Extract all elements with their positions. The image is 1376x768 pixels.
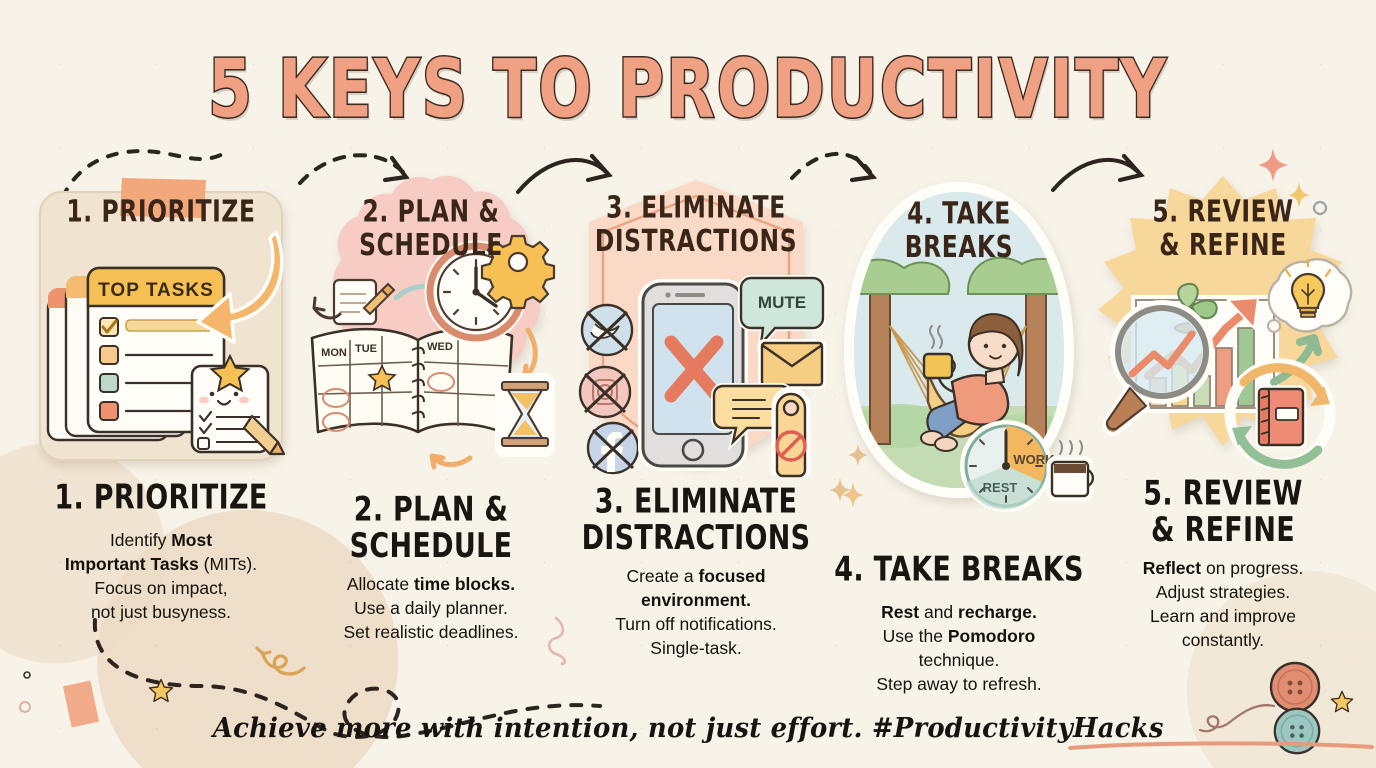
step-1-card: TOP TASKS (30, 170, 292, 470)
caption-line: Important Tasks (MITs). (30, 552, 292, 576)
caption-line: environment. (565, 588, 827, 612)
step-column-5: 5. REVIEW & REFINE 5. REVIEW & REFINE Re… (1092, 170, 1354, 652)
step-1-body: Identify MostImportant Tasks (MITs).Focu… (30, 528, 292, 625)
envelope-icon (761, 342, 823, 386)
caption-line: Allocate time blocks. (300, 572, 562, 596)
step-2-card: MON TUE WED (300, 170, 562, 470)
step-5-title: 5. REVIEW & REFINE (1092, 476, 1354, 548)
button-coral-icon (1268, 660, 1322, 714)
svg-text:MON: MON (321, 347, 347, 359)
caption-line: Create a focused (565, 564, 827, 588)
page-title: 5 KEYS TO PRODUCTIVITY (0, 42, 1376, 136)
step-column-4: WORK REST (828, 176, 1090, 696)
caption-line: Identify Most (30, 528, 292, 552)
step-2-card-heading: 2. PLAN & SCHEDULE (300, 196, 562, 264)
caption-line: Adjust strategies. (1092, 580, 1354, 604)
curly-arrow-gold-icon (252, 640, 310, 680)
do-not-disturb-door-hanger-icon (775, 390, 807, 476)
step-3-body: Create a focusedenvironment.Turn off not… (565, 564, 827, 661)
step-2-caption: 2. PLAN & SCHEDULE Allocate time blocks.… (300, 492, 562, 644)
step-5-body: Reflect on progress.Adjust strategies.Le… (1092, 556, 1354, 653)
sparkle-left-icons (829, 444, 868, 502)
caption-line: not just busyness. (30, 600, 292, 624)
step-3-card-heading: 3. ELIMINATE DISTRACTIONS (565, 192, 827, 260)
notepad-pencil-icon (334, 280, 394, 324)
tiny-dot-icon (22, 670, 32, 680)
star-gold-icon-right (1330, 690, 1354, 714)
caption-line: Rest and recharge. (828, 600, 1090, 624)
svg-text:WED: WED (427, 341, 453, 353)
step-2-title: 2. PLAN & SCHEDULE (300, 492, 562, 564)
hourglass-icon (498, 376, 552, 454)
star-gold-icon (148, 678, 174, 704)
caption-line: Use a daily planner. (300, 596, 562, 620)
step-4-card-heading: 4. TAKE BREAKS (828, 198, 1090, 266)
caption-line: Set realistic deadlines. (300, 620, 562, 644)
step-1-card-heading: 1. PRIORITIZE (30, 196, 292, 230)
svg-text:TUE: TUE (355, 343, 377, 355)
caption-line: Focus on impact, (30, 576, 292, 600)
step-4-body: Rest and recharge.Use the Pomodorotechni… (828, 600, 1090, 697)
open-planner-book-icon: MON TUE WED (312, 329, 512, 434)
coffee-mug-icon (1050, 441, 1093, 498)
step-1-title: 1. PRIORITIZE (30, 480, 292, 516)
step-4-title: 4. TAKE BREAKS (828, 552, 1090, 588)
caption-line: Step away to refresh. (828, 672, 1090, 696)
caption-line: technique. (828, 648, 1090, 672)
curved-orange-arrow-icon (524, 330, 536, 378)
step-5-card: 5. REVIEW & REFINE (1092, 170, 1354, 470)
caption-line: constantly. (1092, 628, 1354, 652)
step-2-body: Allocate time blocks.Use a daily planner… (300, 572, 562, 644)
magnifying-glass-icon (1104, 306, 1208, 434)
footer: Achieve more with intention, not just ef… (0, 713, 1376, 744)
step-3-caption: 3. ELIMINATE DISTRACTIONS Create a focus… (565, 484, 827, 660)
step-4-card: WORK REST (828, 176, 1090, 506)
step-5-card-heading: 5. REVIEW & REFINE (1092, 196, 1354, 264)
bottom-orange-arrow-icon (432, 456, 470, 467)
svg-text:MUTE: MUTE (758, 293, 806, 312)
step-4-caption: 4. TAKE BREAKS Rest and recharge.Use the… (828, 552, 1090, 696)
caption-line: Use the Pomodoro (828, 624, 1090, 648)
infographic-canvas: 5 KEYS TO PRODUCTIVITY (0, 0, 1376, 768)
footer-tagline: Achieve more with intention, not just ef… (213, 713, 1164, 744)
step-column-3: MUTE (565, 170, 827, 660)
step-3-title: 3. ELIMINATE DISTRACTIONS (565, 484, 827, 556)
svg-text:TOP TASKS: TOP TASKS (98, 280, 214, 301)
crossed-out-social-icons (580, 305, 638, 473)
svg-text:REST: REST (983, 480, 1018, 495)
caption-line: Single-task. (565, 636, 827, 660)
tiny-circle-outline-icon (18, 700, 32, 714)
caption-line: Turn off notifications. (565, 612, 827, 636)
lightbulb-thought-bubble-icon (1268, 259, 1351, 332)
step-5-caption: 5. REVIEW & REFINE Reflect on progress.A… (1092, 476, 1354, 652)
caption-line: Reflect on progress. (1092, 556, 1354, 580)
step-3-card: MUTE (565, 170, 827, 470)
step-1-caption: 1. PRIORITIZE Identify MostImportant Tas… (30, 480, 292, 624)
step-column-1: TOP TASKS (30, 170, 292, 624)
step-column-2: MON TUE WED (300, 170, 562, 644)
caption-line: Learn and improve (1092, 604, 1354, 628)
smartphone-icon (641, 282, 745, 468)
mute-speech-bubble-icon: MUTE (741, 278, 823, 344)
